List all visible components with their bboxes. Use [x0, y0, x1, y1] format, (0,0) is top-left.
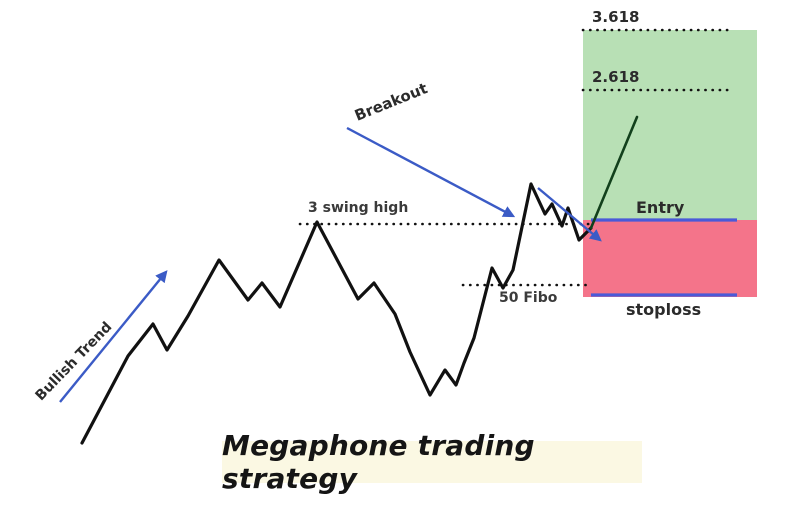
entry-label: Entry [636, 198, 684, 217]
stoploss-label: stoploss [626, 300, 701, 319]
fib-2618-label: 2.618 [592, 68, 639, 86]
swing-high-label: 3 swing high [308, 200, 408, 216]
megaphone-strategy-diagram: 3.618 2.618 Entry stoploss 3 swing high … [0, 0, 800, 516]
price-series-group [82, 117, 637, 443]
annotation-arrows-group [60, 128, 600, 402]
fib-3618-label: 3.618 [592, 8, 639, 26]
loss-zone [583, 220, 757, 297]
title-banner: Megaphone trading strategy [222, 441, 642, 483]
profit-zone [583, 30, 757, 220]
fibo-50-label: 50 Fibo [499, 290, 557, 306]
page-title: Megaphone trading strategy [222, 429, 642, 495]
